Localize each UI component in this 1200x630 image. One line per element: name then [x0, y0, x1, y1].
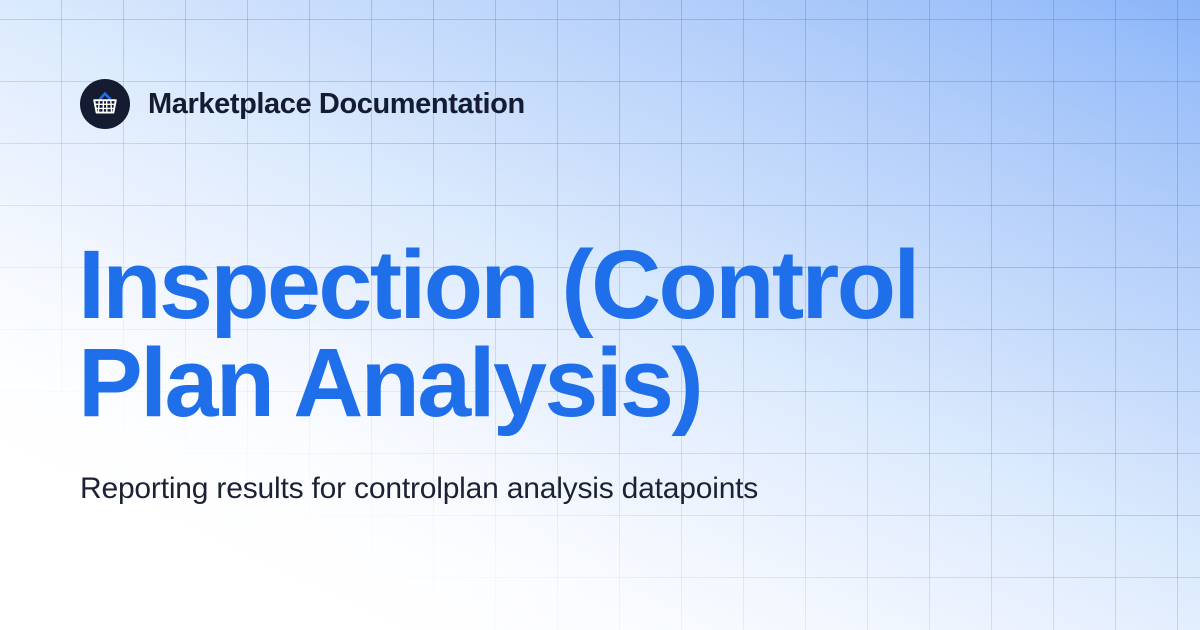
page-subtitle: Reporting results for controlplan analys…: [80, 468, 780, 509]
og-card: Marketplace Documentation Inspection (Co…: [0, 0, 1200, 630]
shopping-basket-icon: [90, 89, 120, 119]
brand-header: Marketplace Documentation: [80, 79, 525, 129]
page-title: Inspection (Control Plan Analysis): [78, 236, 1088, 432]
card-content: Marketplace Documentation Inspection (Co…: [0, 0, 1200, 630]
brand-logo: [80, 79, 130, 129]
brand-name: Marketplace Documentation: [148, 90, 525, 119]
